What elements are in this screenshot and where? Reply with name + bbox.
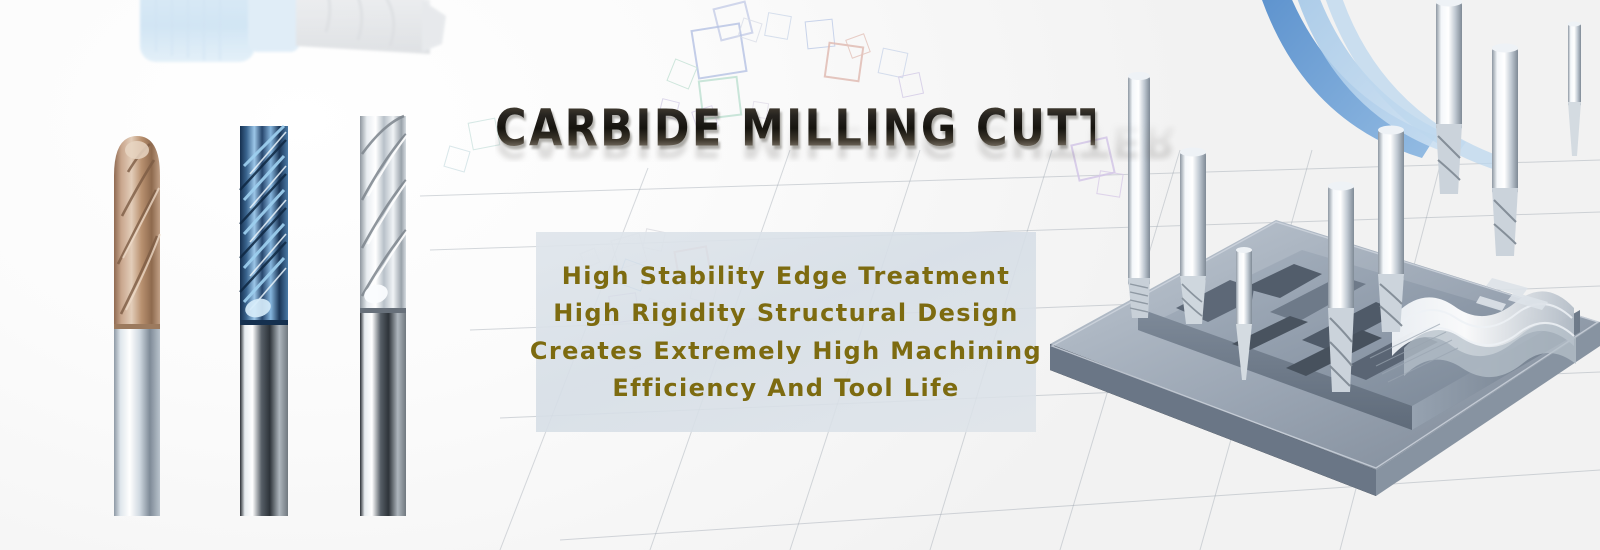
carbide-milling-cutter-banner: CARBIDE MILLING CUTTER CARBIDE MILLING C…: [0, 0, 1600, 550]
subtitle-text-block: High Stability Edge Treatment High Rigid…: [536, 232, 1036, 432]
decor-square: [824, 42, 865, 83]
cnc-tool: [1436, 0, 1462, 194]
spindle-chuck-illustration: [130, 0, 460, 117]
decor-square: [737, 17, 762, 42]
decor-square: [845, 33, 871, 59]
cnc-machining-illustration: [1040, 0, 1600, 550]
subtitle-line-4: Efficiency And Tool Life: [612, 374, 959, 402]
decor-square: [1096, 170, 1123, 197]
cnc-tool: [1236, 247, 1252, 380]
subtitle-line-3: Creates Extremely High Machining: [530, 337, 1042, 365]
decor-square: [764, 12, 792, 40]
workpiece-base-plate: [1050, 220, 1600, 496]
subtitle-line-1: High Stability Edge Treatment: [562, 262, 1011, 290]
cnc-tool: [1492, 44, 1518, 257]
blue-ribbon-swoosh: [1252, 0, 1510, 172]
ball-nose-end-mill: [114, 136, 160, 516]
three-flute-end-mill: [360, 116, 408, 516]
decor-square: [443, 145, 470, 172]
subtitle-line-2: High Rigidity Structural Design: [553, 299, 1018, 327]
cnc-tool: [1180, 148, 1206, 325]
banner-title: CARBIDE MILLING CUTTER: [495, 104, 1095, 155]
banner-title-wrap: CARBIDE MILLING CUTTER CARBIDE MILLING C…: [495, 104, 1095, 224]
carbide-end-mills-group: [88, 96, 458, 526]
decor-square: [712, 0, 753, 41]
cnc-tool: [1328, 182, 1354, 393]
decor-square: [805, 19, 836, 50]
decor-square: [666, 58, 697, 89]
decor-square: [878, 48, 909, 79]
machined-workpiece-block: [1138, 250, 1580, 430]
four-flute-end-mill: [240, 126, 288, 516]
cnc-tool: [1568, 22, 1582, 157]
cnc-tool: [1378, 126, 1404, 333]
decor-square: [898, 72, 924, 98]
decor-square: [690, 22, 747, 79]
